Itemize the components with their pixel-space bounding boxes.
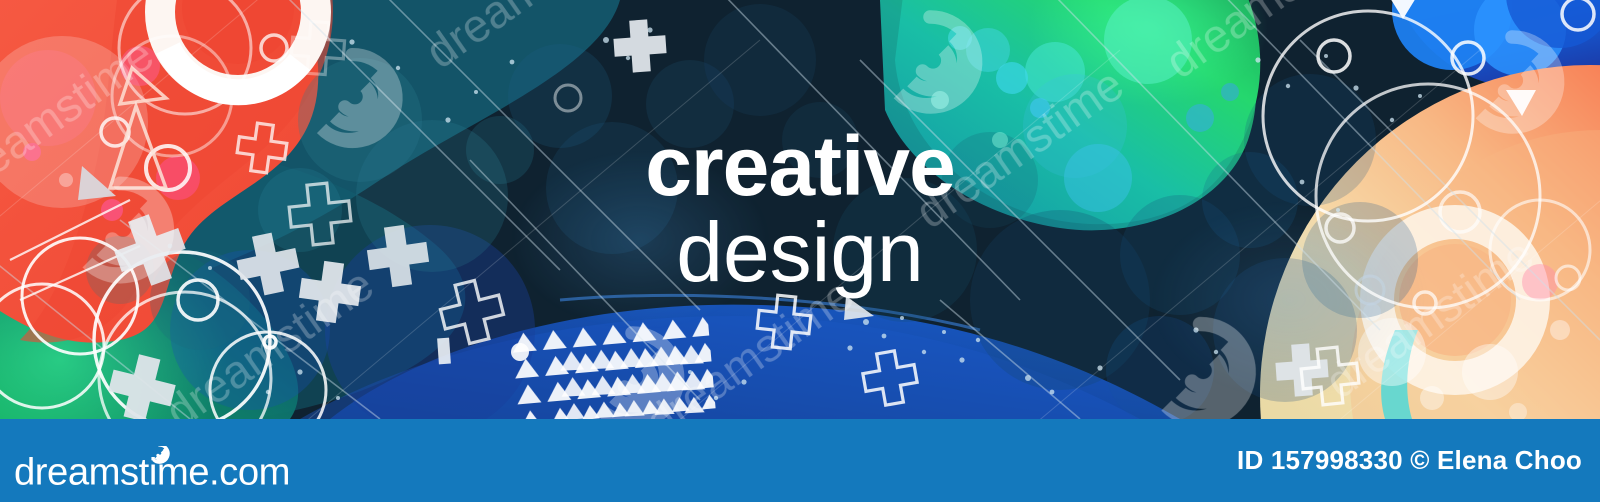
abstract-background-illustration: [0, 0, 1600, 419]
small-dot: [511, 343, 529, 361]
stock-photo-preview: creative design: [0, 0, 1600, 502]
logo-wordmark: dreamstime.com: [14, 450, 290, 490]
image-credit: ID 157998330 © Elena Choo: [1237, 419, 1582, 502]
banner-artwork: creative design: [0, 0, 1600, 419]
triangle-grid-pattern-2: [556, 340, 710, 419]
small-bar: [437, 338, 451, 365]
dreamstime-footer-bar: dreamstime.com ID 157998330 © Elena Choo: [0, 419, 1600, 502]
dreamstime-logo[interactable]: dreamstime.com: [14, 446, 301, 490]
